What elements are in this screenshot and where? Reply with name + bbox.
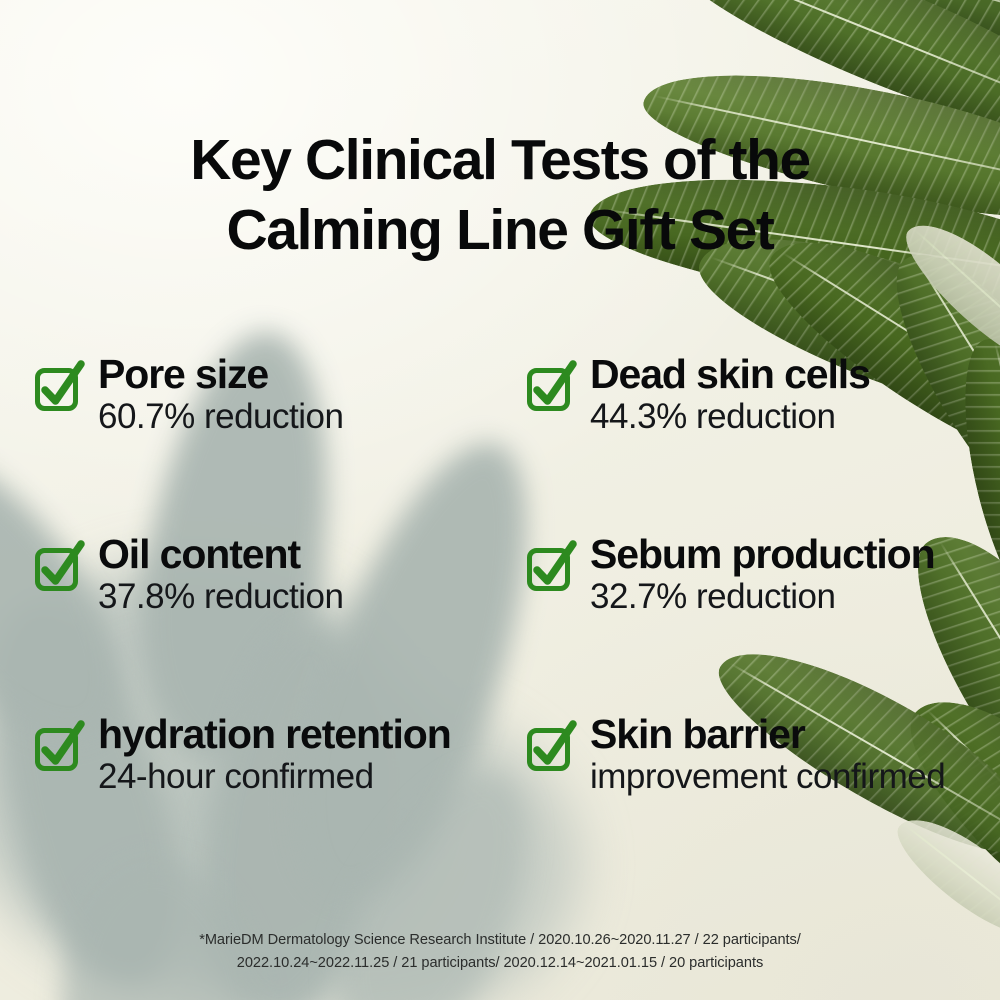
result-title: Sebum production [590,531,935,577]
result-title: Skin barrier [590,711,805,757]
checkbox-checked-icon [526,724,576,774]
result-value: 32.7% reduction [590,577,835,616]
promo-graphic: Key Clinical Tests of the Calming Line G… [0,0,1000,1000]
checkbox-checked-icon [34,724,84,774]
page-title: Key Clinical Tests of the Calming Line G… [0,126,1000,265]
footnote-line-1: *MarieDM Dermatology Science Research In… [28,929,972,953]
checkbox-checked-icon [526,544,576,594]
clinical-results-grid: Pore size 60.7% reduction Dead skin cell… [0,352,1000,872]
result-value: 44.3% reduction [590,397,835,436]
page-title-line-1: Key Clinical Tests of the [120,126,880,196]
page-title-line-2: Calming Line Gift Set [120,196,880,266]
checkbox-checked-icon [34,364,84,414]
results-row: Pore size 60.7% reduction Dead skin cell… [0,352,1000,512]
checkbox-checked-icon [526,364,576,414]
results-row: hydration retention 24-hour confirmed Sk… [0,712,1000,872]
study-footnote: *MarieDM Dermatology Science Research In… [0,929,1000,976]
result-title: Dead skin cells [590,351,870,397]
footnote-line-2: 2022.10.24~2022.11.25 / 21 participants/… [28,952,972,976]
results-row: Oil content 37.8% reduction Sebum produc… [0,532,1000,692]
checkbox-checked-icon [34,544,84,594]
result-value: improvement confirmed [590,757,945,796]
